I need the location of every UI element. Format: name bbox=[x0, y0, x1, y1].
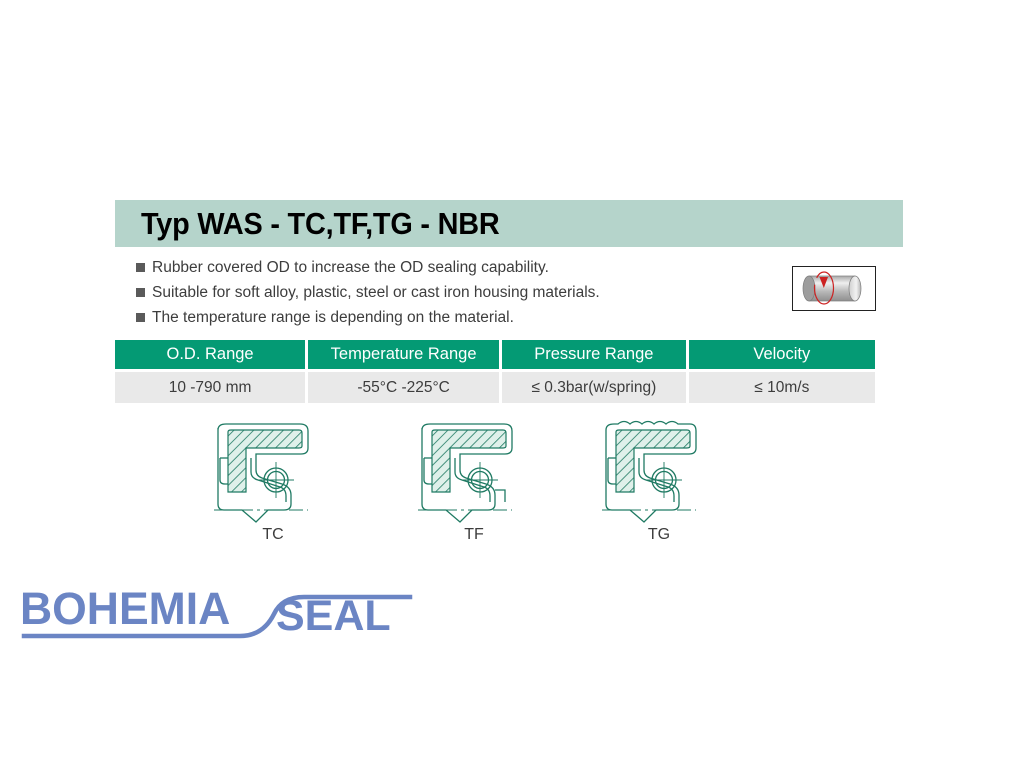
bohemia-seal-logo: BOHEMIA SEAL bbox=[18, 578, 418, 648]
page-title: Typ WAS - TC,TF,TG - NBR bbox=[141, 206, 500, 242]
datasheet-page: Typ WAS - TC,TF,TG - NBR Rubber covered … bbox=[0, 0, 1024, 768]
feature-text: Rubber covered OD to increase the OD sea… bbox=[152, 257, 549, 278]
cell-velocity: ≤ 10m/s bbox=[689, 369, 875, 403]
column-header-pressure-range: Pressure Range bbox=[502, 340, 689, 369]
column-header-velocity: Velocity bbox=[689, 340, 875, 369]
seal-label-tc: TC bbox=[198, 526, 348, 544]
table-row: 10 -790 mm -55°C -225°C ≤ 0.3bar(w/sprin… bbox=[115, 369, 875, 403]
feature-text: The temperature range is depending on th… bbox=[152, 307, 514, 328]
company-logo: BOHEMIA SEAL bbox=[18, 578, 418, 648]
list-item: Suitable for soft alloy, plastic, steel … bbox=[136, 282, 776, 304]
column-header-od-range: O.D. Range bbox=[115, 340, 308, 369]
seal-diagram-group: TC bbox=[0, 418, 1024, 553]
seal-diagram-tf: TF bbox=[400, 418, 550, 553]
product-title-band: Typ WAS - TC,TF,TG - NBR bbox=[115, 200, 903, 247]
seal-diagram-tg: TG bbox=[584, 418, 734, 553]
square-bullet-icon bbox=[136, 288, 145, 297]
list-item: Rubber covered OD to increase the OD sea… bbox=[136, 257, 776, 279]
list-item: The temperature range is depending on th… bbox=[136, 307, 776, 329]
seal-label-tg: TG bbox=[584, 526, 734, 544]
rotating-shaft-icon bbox=[792, 266, 876, 311]
column-header-temperature-range: Temperature Range bbox=[308, 340, 502, 369]
garter-spring bbox=[462, 462, 498, 498]
cell-od-range: 10 -790 mm bbox=[115, 369, 308, 403]
feature-list: Rubber covered OD to increase the OD sea… bbox=[136, 257, 776, 332]
square-bullet-icon bbox=[136, 263, 145, 272]
shaft-icon-graphic bbox=[793, 267, 874, 309]
seal-tg-drawing bbox=[584, 418, 734, 530]
seal-tc-drawing bbox=[196, 418, 346, 530]
feature-text: Suitable for soft alloy, plastic, steel … bbox=[152, 282, 600, 303]
table-header-row: O.D. Range Temperature Range Pressure Ra… bbox=[115, 340, 875, 369]
specification-table: O.D. Range Temperature Range Pressure Ra… bbox=[115, 340, 875, 403]
cell-pressure-range: ≤ 0.3bar(w/spring) bbox=[502, 369, 689, 403]
cell-temperature-range: -55°C -225°C bbox=[308, 369, 502, 403]
logo-text-bohemia: BOHEMIA bbox=[20, 584, 230, 634]
garter-spring bbox=[258, 462, 294, 498]
seal-diagram-tc: TC bbox=[196, 418, 346, 553]
garter-spring bbox=[646, 462, 682, 498]
square-bullet-icon bbox=[136, 313, 145, 322]
seal-label-tf: TF bbox=[399, 526, 549, 544]
seal-tf-drawing bbox=[400, 418, 550, 530]
